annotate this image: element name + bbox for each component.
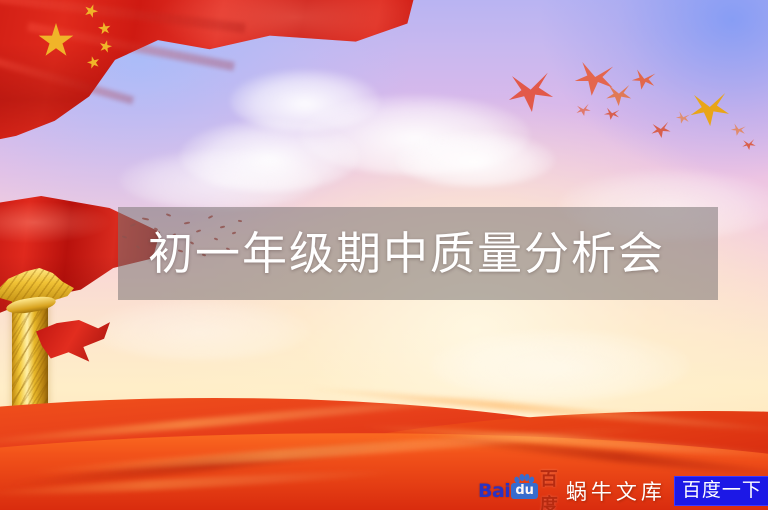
baidu-search-button[interactable]: 百度一下 [674, 476, 768, 506]
cloud [395, 132, 555, 187]
paw-print-icon [513, 474, 535, 485]
baidu-logo-latin: Bai [478, 480, 510, 502]
baidu-logo[interactable]: Bai du 百度 [478, 478, 558, 504]
baidu-du-text: du [515, 483, 534, 498]
site-brand-label: 蜗牛文库 [566, 476, 666, 506]
title-band: 初一年级期中质量分析会 [118, 207, 718, 300]
watermark-bar: Bai du 百度 蜗牛文库 百度一下 [478, 476, 768, 506]
page-title: 初一年级期中质量分析会 [148, 231, 665, 276]
baidu-logo-du: du [511, 483, 538, 500]
baidu-logo-chinese: 百度 [540, 465, 558, 510]
china-national-flag [0, 0, 416, 142]
poster-thumbnail: 初一年级期中质量分析会 Bai du 百度 蜗牛文库 百度一下 [0, 0, 768, 510]
